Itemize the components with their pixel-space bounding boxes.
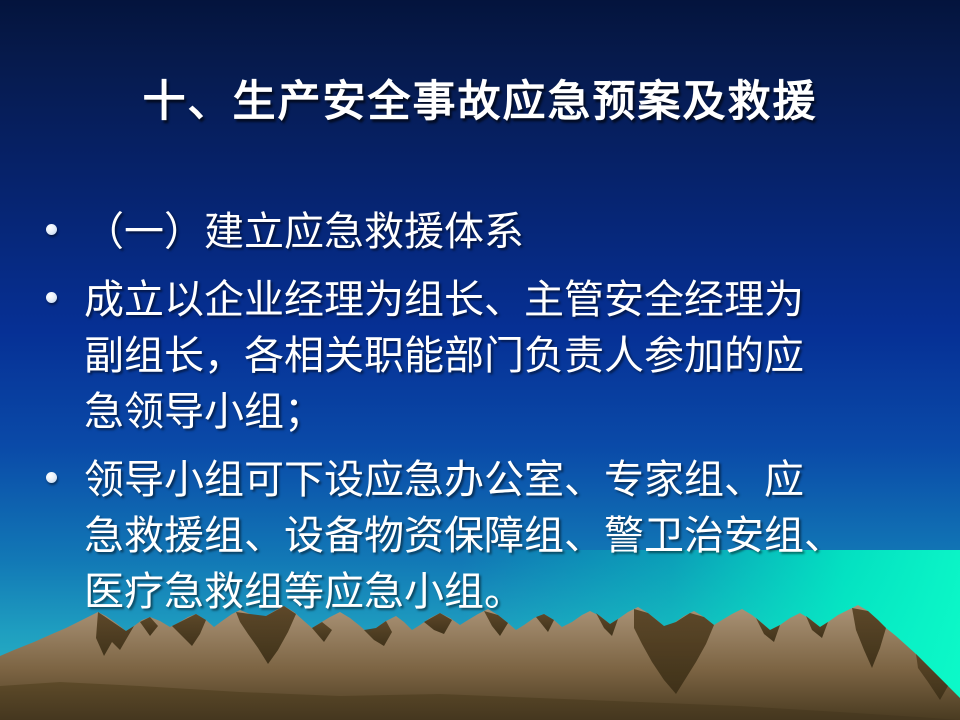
bullet-marker <box>46 452 84 483</box>
page-title: 十、生产安全事故应急预案及救援 <box>0 78 960 127</box>
list-item[interactable]: （一）建立应急救援体系 <box>46 204 930 260</box>
bullet-dot-icon <box>46 292 57 303</box>
bullet-marker <box>46 204 84 235</box>
list-item-line: 急救援组、设备物资保障组、警卫治安组、 <box>84 508 930 564</box>
list-item-line: 成立以企业经理为组长、主管安全经理为 <box>84 272 930 328</box>
list-item-line: （一）建立应急救援体系 <box>84 204 930 260</box>
bullet-dot-icon <box>46 224 57 235</box>
list-item[interactable]: 成立以企业经理为组长、主管安全经理为 副组长，各相关职能部门负责人参加的应 急领… <box>46 272 930 440</box>
list-item-line: 急领导小组； <box>84 384 930 440</box>
slide-canvas: 十、生产安全事故应急预案及救援 （一）建立应急救援体系 成立以企业经理为组长、主… <box>0 0 960 720</box>
list-item-line: 副组长，各相关职能部门负责人参加的应 <box>84 328 930 384</box>
list-item-text: （一）建立应急救援体系 <box>84 204 930 260</box>
bullet-list: （一）建立应急救援体系 成立以企业经理为组长、主管安全经理为 副组长，各相关职能… <box>46 204 930 632</box>
list-item-text: 成立以企业经理为组长、主管安全经理为 副组长，各相关职能部门负责人参加的应 急领… <box>84 272 930 440</box>
bullet-marker <box>46 272 84 303</box>
bullet-dot-icon <box>46 472 57 483</box>
list-item-line: 领导小组可下设应急办公室、专家组、应 <box>84 452 930 508</box>
mountain-range-silhouette <box>0 590 960 720</box>
